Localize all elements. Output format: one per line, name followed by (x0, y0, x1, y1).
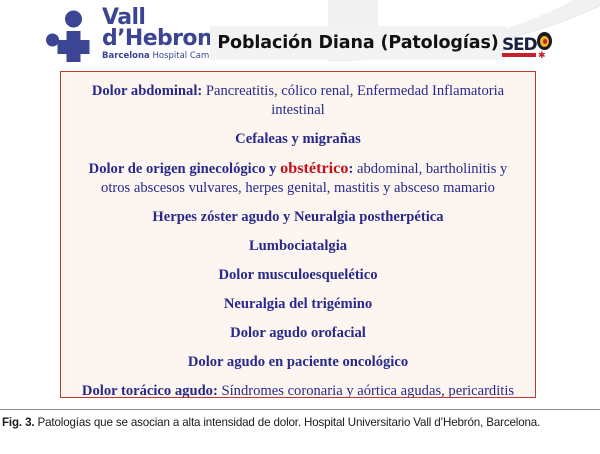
figure-caption: Fig. 3. Patologías que se asocian a alta… (2, 416, 598, 431)
figure-number: Fig. 3. (2, 416, 34, 429)
pathology-item: Dolor abdominal: Pancreatitis, cólico re… (75, 82, 521, 120)
pathology-label: Neuralgia del trigémino (224, 296, 372, 312)
slide: Vall d’Hebron Barcelona Hospital Campus … (0, 0, 600, 404)
asterisk-icon: ✱ (538, 51, 546, 60)
slide-title-bar: Población Diana (Patologías) (210, 26, 506, 60)
slide-title: Población Diana (Patologías) (217, 33, 498, 53)
pathology-item: Dolor musculoesquelético (75, 266, 521, 285)
pathology-label: Dolor agudo orofacial (230, 325, 366, 341)
pathology-highlight: obstétrico (280, 159, 348, 177)
target-bullseye (543, 39, 547, 44)
pathology-detail: Pancreatitis, cólico renal, Enfermedad I… (202, 83, 504, 118)
pathology-item: Cefaleas y migrañas (75, 130, 521, 149)
pathology-label: Dolor de origen ginecológico y (89, 161, 280, 177)
pathologies-list-box: Dolor abdominal: Pancreatitis, cólico re… (60, 71, 536, 398)
pathology-item: Lumbociatalgia (75, 237, 521, 256)
hospital-cross-icon (46, 10, 102, 62)
caption-divider (0, 409, 600, 410)
pathology-item: Neuralgia del trigémino (75, 295, 521, 314)
pathology-item: Dolor de origen ginecológico y obstétric… (75, 159, 521, 198)
logo-line-1: Vall (102, 7, 232, 28)
pathology-label: Cefaleas y migrañas (235, 131, 361, 147)
sed-underline-bar (502, 53, 536, 57)
pathology-label: Dolor torácico agudo: (82, 383, 218, 398)
logo-tagline-bold: Barcelona (102, 51, 150, 61)
pathology-item: Dolor agudo en paciente oncológico (75, 353, 521, 372)
pathology-label: Dolor musculoesquelético (218, 267, 377, 283)
pathology-label: Lumbociatalgia (249, 238, 347, 254)
pathology-label: Herpes zóster agudo y Neuralgia postherp… (152, 209, 443, 225)
pathology-item: Herpes zóster agudo y Neuralgia postherp… (75, 208, 521, 227)
target-icon (537, 32, 552, 50)
pathology-label: Dolor agudo en paciente oncológico (188, 354, 408, 370)
pathology-item: Dolor agudo orofacial (75, 324, 521, 343)
vall-dhebron-logo: Vall d’Hebron Barcelona Hospital Campus (46, 6, 226, 68)
sed-wordmark: SED (502, 35, 536, 55)
sed-logo: SED ✱ (502, 33, 558, 63)
target-ring (540, 36, 549, 47)
pathology-label: Dolor abdominal: (92, 83, 202, 99)
pathology-item: Dolor torácico agudo: Síndromes coronari… (75, 382, 521, 398)
figure-caption-text: Patologías que se asocian a alta intensi… (34, 416, 540, 429)
